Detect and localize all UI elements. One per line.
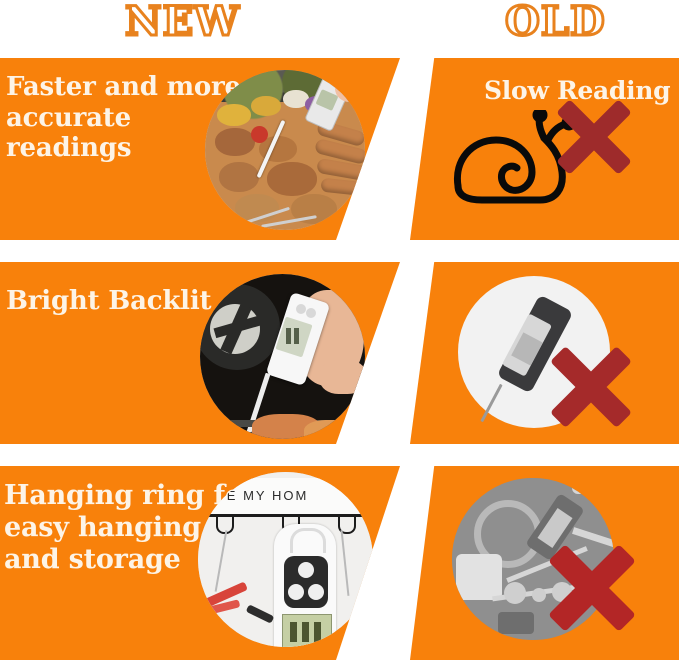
photo-detail bbox=[498, 612, 534, 634]
photo-detail bbox=[532, 588, 546, 602]
thermometer-hanging-on-hook-photo: OVE MY HOM bbox=[198, 472, 373, 647]
photo-detail bbox=[335, 72, 365, 102]
header-old-label: OLD bbox=[505, 0, 606, 45]
hand-holding-backlit-thermometer-photo bbox=[200, 274, 365, 439]
x-mark-icon bbox=[553, 96, 635, 178]
hanging-ring-icon bbox=[290, 528, 326, 553]
photo-detail bbox=[304, 420, 358, 439]
row-1-new-panel: Faster and more accurate readings bbox=[0, 58, 400, 240]
photo-detail bbox=[572, 482, 602, 494]
comparison-row-3: Hanging ring for easy hanging and storag… bbox=[0, 466, 679, 660]
photo-detail bbox=[314, 622, 321, 642]
thermometer-button bbox=[298, 562, 314, 578]
photo-detail bbox=[219, 162, 259, 192]
comparison-infographic: NEW OLD Faster and more accurate reading… bbox=[0, 0, 679, 660]
photo-detail bbox=[456, 554, 502, 600]
photo-detail bbox=[251, 126, 268, 143]
row-2-old-panel bbox=[410, 262, 679, 444]
photo-detail bbox=[251, 96, 281, 116]
photo-detail bbox=[286, 328, 291, 344]
thermometer-button bbox=[288, 584, 304, 600]
header: NEW OLD bbox=[0, 0, 679, 46]
photo-detail bbox=[290, 622, 297, 642]
photo-detail bbox=[267, 162, 317, 196]
row-3-old-panel bbox=[410, 466, 679, 660]
photo-detail bbox=[504, 582, 526, 604]
x-mark-icon bbox=[548, 344, 634, 430]
bbq-grill-with-thermometer-photo bbox=[205, 70, 365, 230]
row-1-old-panel: Slow Reading bbox=[410, 58, 679, 240]
thermometer-button bbox=[306, 308, 316, 318]
row-2-new-panel: Bright Backlit bbox=[0, 262, 400, 444]
comparison-row-2: Bright Backlit bbox=[0, 262, 679, 444]
photo-detail bbox=[217, 104, 251, 126]
home-sign-text: OVE MY HOM bbox=[204, 488, 308, 503]
comparison-row-1: Faster and more accurate readings bbox=[0, 58, 679, 240]
photo-detail bbox=[320, 360, 365, 394]
thermometer-button bbox=[296, 304, 306, 314]
thermometer-button bbox=[308, 584, 324, 600]
x-mark-icon bbox=[546, 542, 638, 634]
header-new-label: NEW bbox=[125, 0, 240, 45]
photo-detail bbox=[215, 128, 255, 156]
photo-detail bbox=[302, 622, 309, 642]
row-3-new-panel: Hanging ring for easy hanging and storag… bbox=[0, 466, 400, 660]
photo-detail bbox=[294, 328, 299, 344]
